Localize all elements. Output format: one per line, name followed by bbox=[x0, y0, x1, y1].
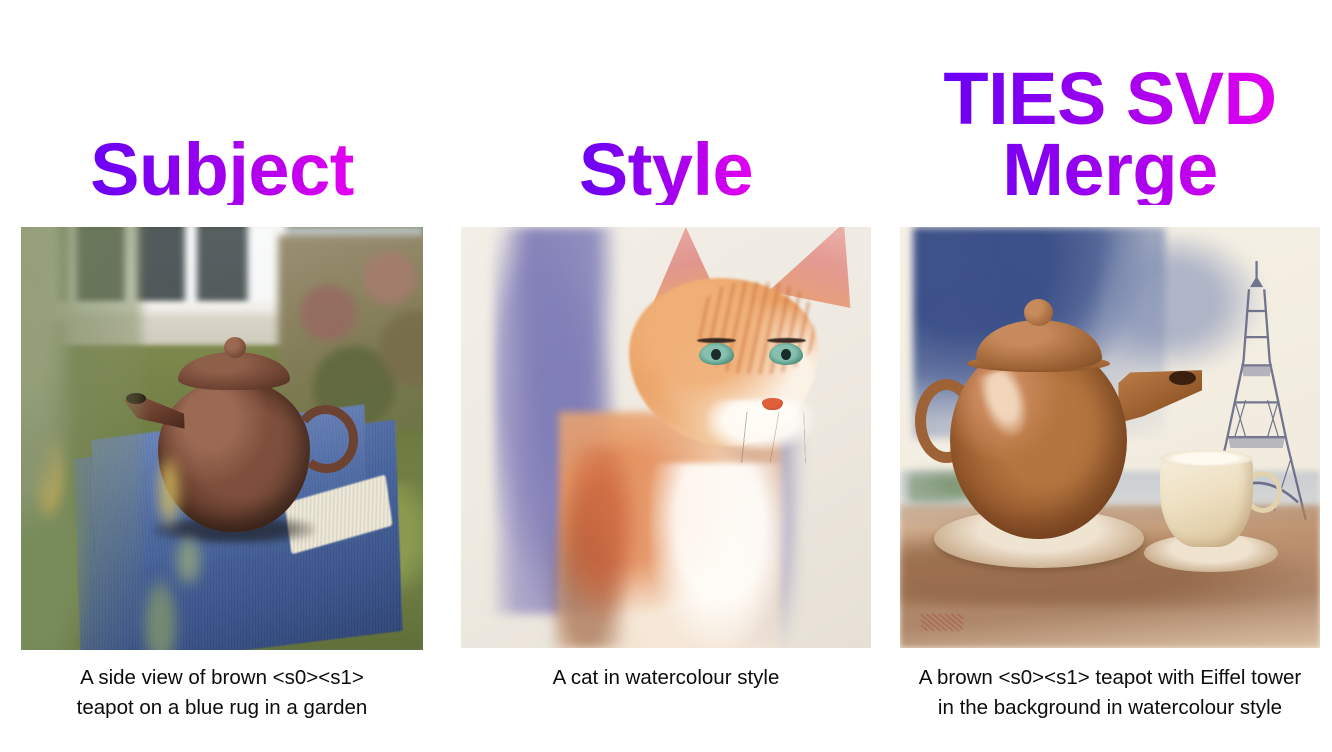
image-zone-subject bbox=[0, 227, 444, 650]
teacup bbox=[1160, 454, 1252, 547]
column-subject: Subject bbox=[0, 0, 444, 752]
image-zone-style bbox=[444, 227, 888, 650]
caption-zone-style: A cat in watercolour style bbox=[444, 650, 888, 752]
garden-bush-right bbox=[278, 235, 423, 430]
column-title-style: Style bbox=[579, 135, 753, 205]
cat-whiskers bbox=[699, 412, 863, 463]
title-zone-merge: TIES SVD Merge bbox=[888, 0, 1332, 227]
figure-root: Subject bbox=[0, 0, 1332, 752]
style-reference-painting bbox=[461, 227, 871, 648]
caption-zone-merge: A brown <s0><s1> teapot with Eiffel towe… bbox=[888, 650, 1332, 752]
caption-zone-subject: A side view of brown <s0><s1> teapot on … bbox=[0, 650, 444, 752]
figure-columns: Subject bbox=[0, 0, 1332, 752]
column-title-subject: Subject bbox=[90, 135, 354, 205]
title-zone-style: Style bbox=[444, 0, 888, 227]
caption-merge: A brown <s0><s1> teapot with Eiffel towe… bbox=[919, 663, 1302, 722]
cat-pupil-right bbox=[781, 349, 791, 360]
artist-signature bbox=[921, 614, 963, 631]
image-zone-merge bbox=[888, 227, 1332, 650]
column-style: Style bbox=[444, 0, 888, 752]
foreground-flower-stem bbox=[134, 455, 222, 650]
cat-nose bbox=[762, 398, 783, 411]
foreground-foliage-left bbox=[21, 227, 142, 650]
title-zone-subject: Subject bbox=[0, 0, 444, 227]
cat-body-shading bbox=[551, 446, 641, 648]
merged-teapot-lid-knob bbox=[1024, 299, 1053, 326]
column-ties-svd-merge: TIES SVD Merge bbox=[888, 0, 1332, 752]
caption-subject: A side view of brown <s0><s1> teapot on … bbox=[77, 663, 368, 722]
cat-pupil-left bbox=[711, 349, 721, 360]
cat-chest bbox=[650, 463, 789, 648]
column-title-merge: TIES SVD Merge bbox=[943, 64, 1276, 205]
caption-style: A cat in watercolour style bbox=[553, 663, 780, 693]
teacup-rim bbox=[1160, 450, 1252, 467]
merged-output-painting bbox=[900, 227, 1320, 648]
subject-reference-photo bbox=[21, 227, 423, 650]
